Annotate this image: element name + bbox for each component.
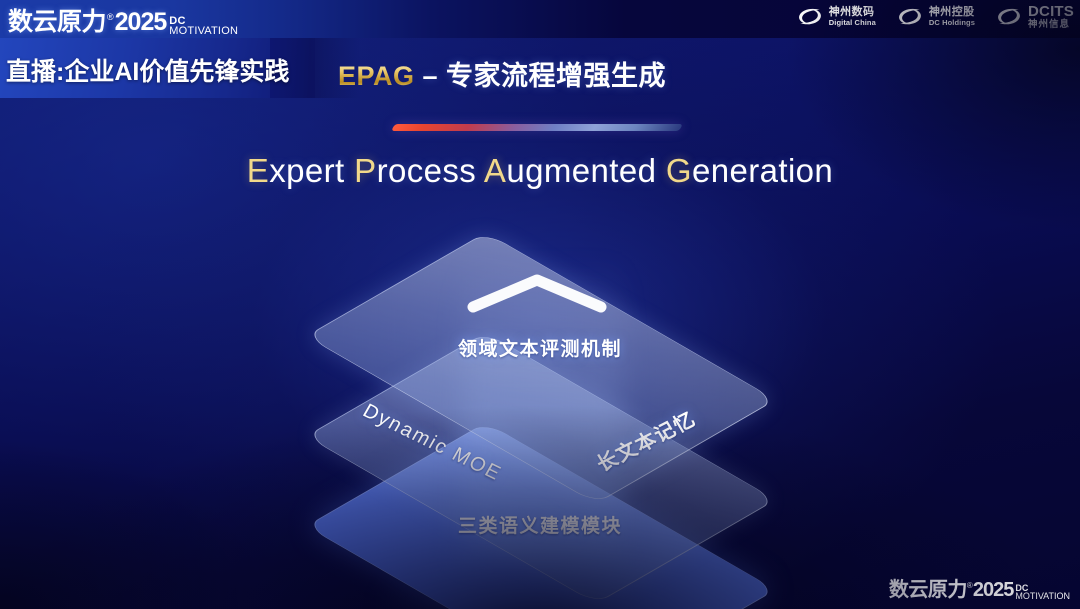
logo-dc-holdings-cn: 神州控股	[929, 7, 975, 19]
logo-digital-china: 神州数码 Digital China	[796, 6, 876, 28]
headline-part-p: P	[354, 152, 376, 189]
title-divider	[391, 124, 683, 131]
brand-name-cn: 数云原力	[8, 2, 106, 38]
logo-digital-china-text: 神州数码 Digital China	[829, 7, 876, 26]
spiral-swoosh-icon	[995, 6, 1023, 28]
logo-dcits-cn: 神州信息	[1028, 20, 1074, 30]
logo-digital-china-cn: 神州数码	[829, 7, 876, 19]
diagram-layer-bottom-label: 三类语义建模模块	[0, 511, 1080, 538]
logo-dc-holdings-en: DC Holdings	[929, 19, 975, 27]
brand-dc-motivation: DC MOTIVATION	[169, 16, 238, 36]
partner-logo-row: 神州数码 Digital China 神州控股 DC Holdings DCIT…	[796, 4, 1074, 30]
brand-registered-mark: ®	[107, 12, 114, 22]
brand-logo: 数云原力 ® 2025 DC MOTIVATION	[8, 2, 238, 42]
slide-canvas: 数云原力 ® 2025 DC MOTIVATION 神州数码 Digital C…	[0, 0, 1080, 609]
slide-title-abbr: EPAG	[338, 61, 415, 91]
headline-part-rocess: rocess	[377, 152, 484, 189]
headline-part-g: G	[666, 152, 692, 189]
live-banner-text: 直播:企业AI价值先锋实践	[6, 52, 289, 88]
logo-dcits-en: DCITS	[1028, 4, 1074, 20]
logo-dc-holdings-text: 神州控股 DC Holdings	[929, 7, 975, 26]
headline-part-e: E	[247, 152, 269, 189]
watermark-year: 2025	[973, 579, 1014, 602]
brand-year: 2025	[115, 8, 167, 37]
watermark-motivation-text: MOTIVATION	[1015, 592, 1070, 600]
logo-dc-holdings: 神州控股 DC Holdings	[896, 6, 975, 28]
headline-part-ugmented: ugmented	[506, 152, 666, 189]
headline-part-eneration: eneration	[692, 152, 833, 189]
slide-title-cn: 专家流程增强生成	[446, 61, 666, 91]
slide-title: EPAG – 专家流程增强生成	[338, 54, 666, 93]
footer-watermark: 数云原力 ® 2025 DC MOTIVATION	[889, 573, 1070, 605]
diagram-layer-top-label: 领域文本评测机制	[0, 334, 1080, 361]
watermark-dc-motivation: DC MOTIVATION	[1015, 584, 1070, 600]
brand-motivation-text: MOTIVATION	[169, 26, 238, 36]
headline: Expert Process Augmented Generation	[0, 152, 1080, 190]
spiral-swoosh-icon	[896, 6, 924, 28]
slide-title-separator: –	[415, 61, 447, 91]
headline-part-xpert: xpert	[269, 152, 354, 189]
logo-dcits-text: DCITS 神州信息	[1028, 4, 1074, 30]
spiral-swoosh-icon	[796, 6, 824, 28]
chevron-up-icon	[466, 272, 608, 314]
headline-part-a: A	[484, 152, 506, 189]
watermark-registered-mark: ®	[967, 581, 973, 590]
logo-dcits: DCITS 神州信息	[995, 4, 1074, 30]
logo-digital-china-en: Digital China	[829, 19, 876, 27]
watermark-name-cn: 数云原力	[889, 573, 967, 602]
